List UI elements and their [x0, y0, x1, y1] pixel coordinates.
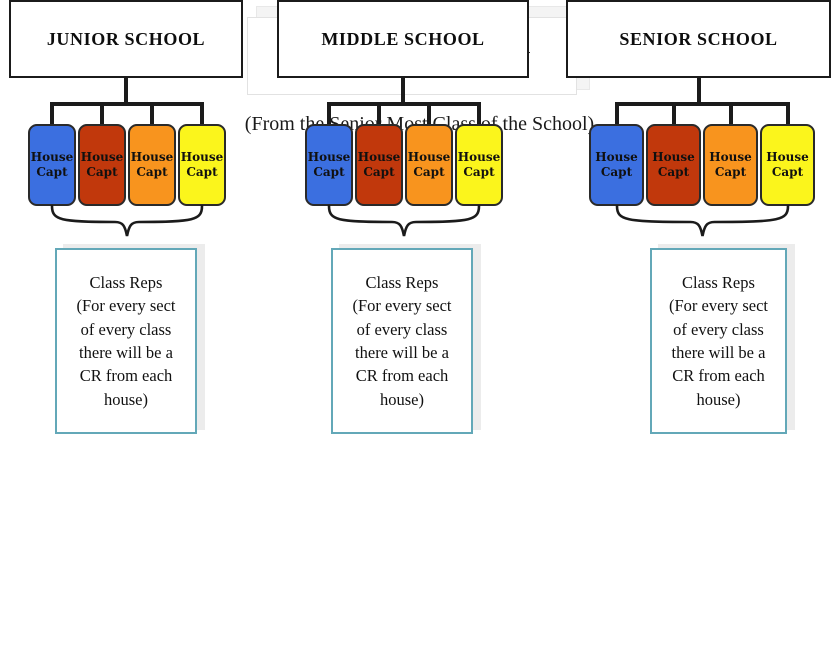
house-label-line1: House [652, 150, 694, 165]
branch-3: SENIOR SCHOOLHouseCaptHouseCaptHouseCapt… [0, 0, 839, 456]
house-label-line2: Capt [601, 165, 632, 180]
connector-drop [729, 102, 733, 126]
class-reps-line: there will be a [672, 341, 766, 364]
house-captain-box[interactable]: HouseCapt [646, 124, 701, 206]
house-label-line2: Capt [658, 165, 689, 180]
house-label-line1: House [595, 150, 637, 165]
class-reps-line: of every class [673, 318, 764, 341]
brace-connector [607, 204, 798, 244]
connector-drop [615, 102, 619, 126]
house-captain-box[interactable]: HouseCapt [703, 124, 758, 206]
house-captain-box[interactable]: HouseCapt [589, 124, 644, 206]
school-box[interactable]: SENIOR SCHOOL [566, 0, 831, 78]
school-label: SENIOR SCHOOL [619, 29, 777, 50]
house-label-line2: Capt [772, 165, 803, 180]
class-reps-box[interactable]: Class Reps(For every sectof every classt… [650, 248, 787, 434]
connector-bus [615, 102, 790, 106]
connector-drop [786, 102, 790, 126]
class-reps-line: house) [697, 388, 741, 411]
class-reps-line: Class Reps [682, 271, 755, 294]
house-label-line1: House [709, 150, 751, 165]
house-label-line1: House [766, 150, 808, 165]
org-chart-canvas: Head Girl/Head Boy (From the Senior Most… [0, 0, 839, 669]
connector-drop [672, 102, 676, 126]
class-reps-line: (For every sect [669, 294, 768, 317]
class-reps-line: CR from each [672, 364, 765, 387]
house-captain-box[interactable]: HouseCapt [760, 124, 815, 206]
connector-stem [697, 78, 701, 104]
house-label-line2: Capt [715, 165, 746, 180]
